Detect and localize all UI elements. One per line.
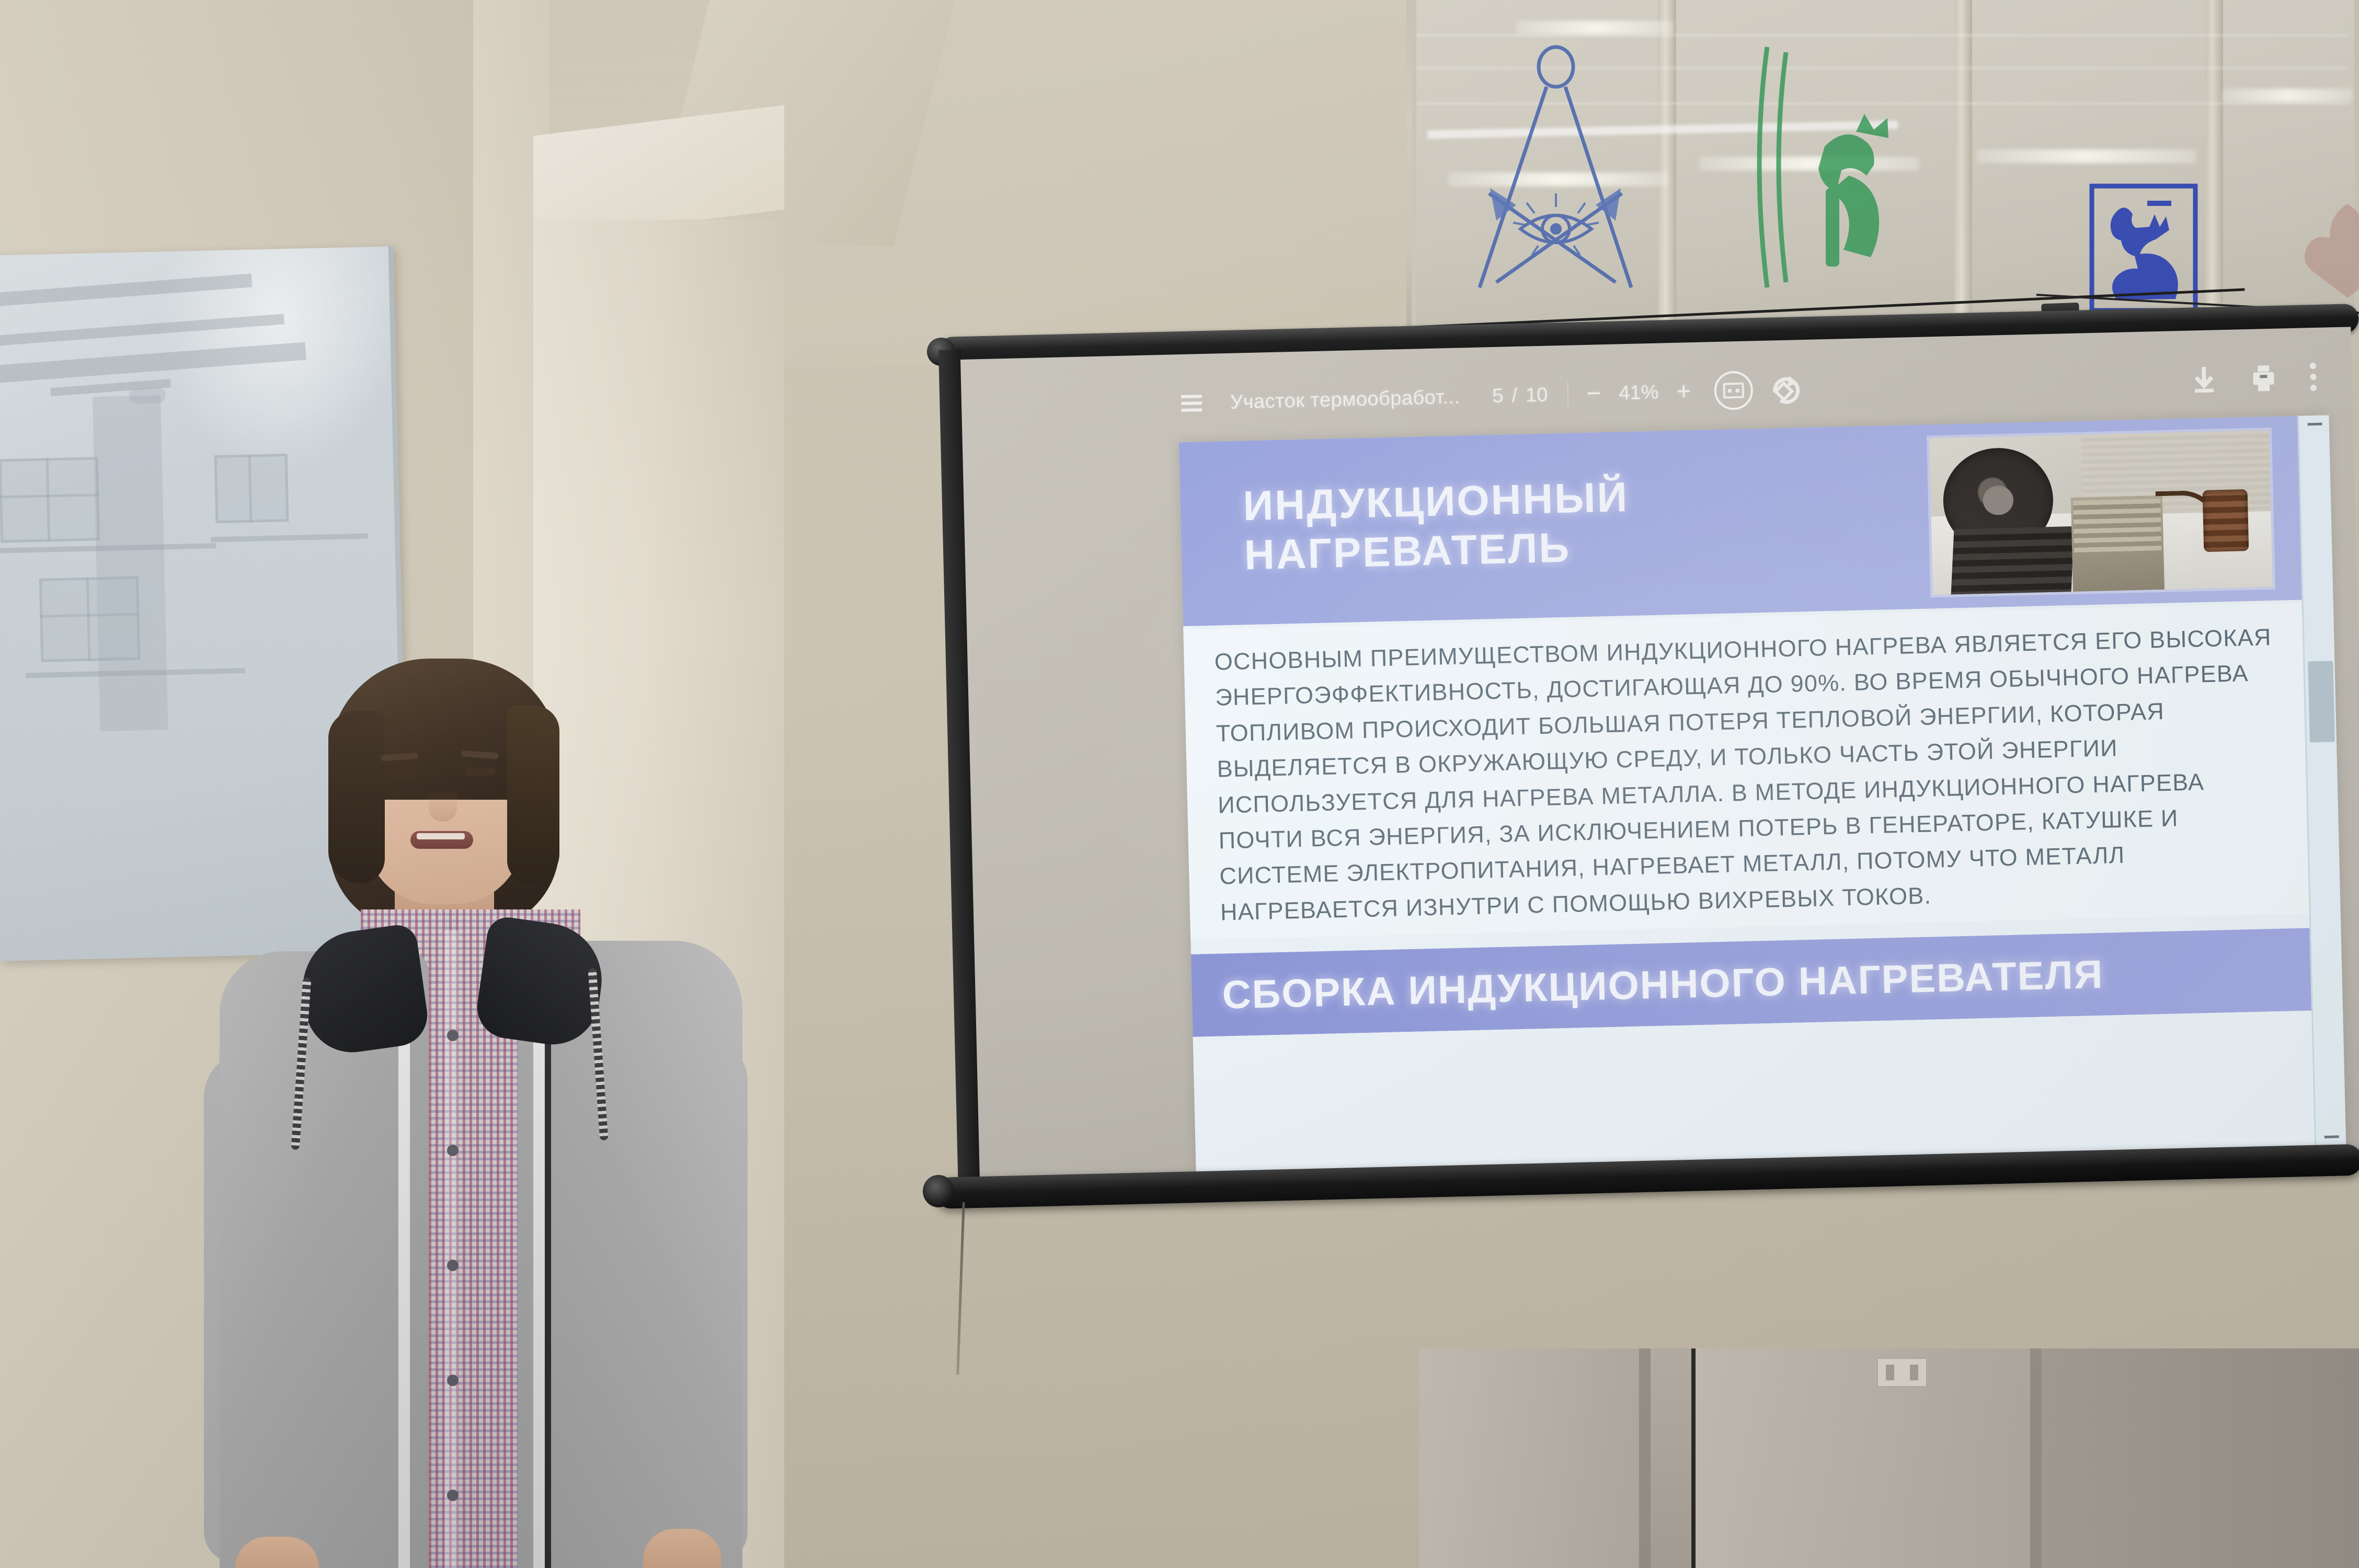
zoom-out-button[interactable]: −	[1586, 381, 1601, 407]
hamburger-menu-icon[interactable]	[1181, 395, 1203, 412]
page-separator: /	[1511, 384, 1518, 407]
shirt-placket	[444, 930, 458, 1568]
download-icon[interactable]	[2191, 364, 2217, 394]
total-pages-value: 10	[1526, 384, 1548, 407]
pdf-viewer: Участок термообработ... 5 / 10 − 41% +	[1160, 342, 2359, 1174]
slide-body-text: ОСНОВНЫМ ПРЕИМУЩЕСТВОМ ИНДУКЦИОННОГО НАГ…	[1214, 619, 2278, 930]
zoom-in-button[interactable]: +	[1676, 379, 1691, 405]
masonic-square-compasses-eye-emblem	[1459, 37, 1652, 308]
slide-title: ИНДУКЦИОННЫЙ НАГРЕВАТЕЛЬ	[1243, 467, 1841, 580]
scroll-down-arrow[interactable]	[2324, 1135, 2339, 1138]
screen-cable	[956, 1202, 965, 1375]
window-mullion	[2205, 0, 2223, 335]
slide-banner-text: СБОРКА ИНДУКЦИОННОГО НАГРЕВАТЕЛЯ	[1222, 951, 2104, 1018]
slide-body: ОСНОВНЫМ ПРЕИМУЩЕСТВОМ ИНДУКЦИОННОГО НАГ…	[1183, 603, 2309, 940]
toolbar-right-group	[2191, 362, 2317, 395]
window-mullion	[1954, 0, 1972, 335]
window-mullion	[1658, 0, 1676, 335]
fit-to-page-icon[interactable]	[1714, 371, 1754, 410]
presenter-person	[173, 617, 878, 1568]
rotate-clockwise-icon[interactable]	[1768, 372, 1804, 407]
scroll-thumb[interactable]	[2308, 661, 2335, 742]
green-coat-of-arms-emblem	[1746, 16, 1919, 308]
scroll-up-arrow[interactable]	[2308, 423, 2322, 426]
screen-surface: Участок термообработ... 5 / 10 − 41% +	[960, 327, 2359, 1206]
document-page: ИНДУКЦИОННЫЙ НАГРЕВАТЕЛЬ	[1179, 415, 2346, 1173]
faded-red-emblem	[2295, 188, 2359, 319]
print-icon[interactable]	[2250, 363, 2277, 393]
zoom-level-value: 41%	[1619, 381, 1659, 405]
page-indicator: 5 / 10	[1492, 384, 1548, 407]
more-options-kebab-icon[interactable]	[2310, 363, 2317, 391]
induction-heater-photo	[1929, 430, 2273, 595]
presenter-mouth	[410, 831, 473, 849]
zoom-controls: − 41% +	[1586, 379, 1691, 407]
projection-screen: Участок термообработ... 5 / 10 − 41% +	[938, 335, 2359, 1380]
current-page-value[interactable]: 5	[1492, 385, 1504, 407]
room-scene: Участок термообработ... 5 / 10 − 41% +	[0, 0, 2359, 1568]
document-title: Участок термообработ...	[1230, 386, 1460, 413]
toolbar-divider	[1567, 382, 1569, 407]
